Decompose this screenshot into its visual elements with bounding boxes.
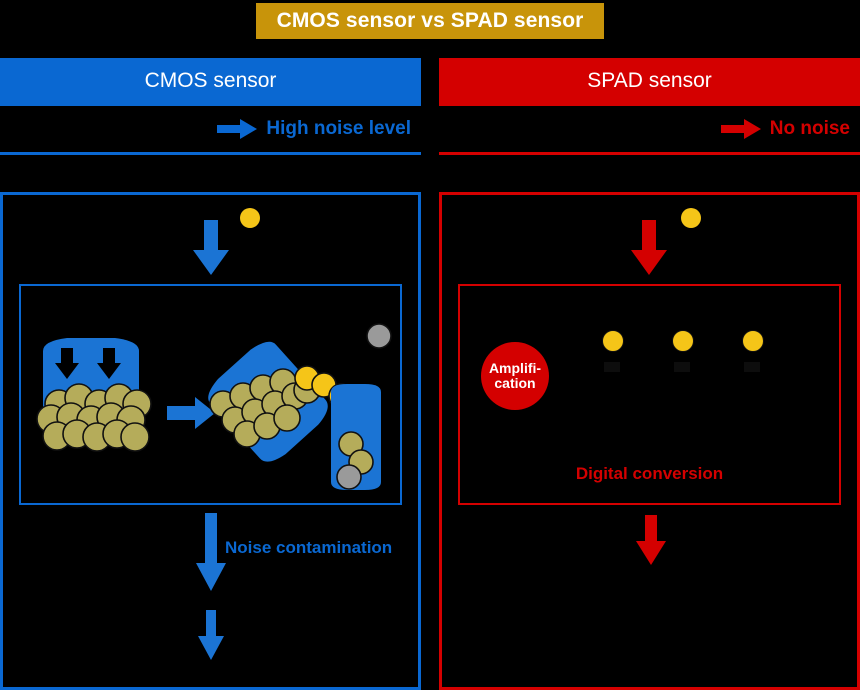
incoming-photon: [681, 208, 701, 228]
page-title: CMOS sensor vs SPAD sensor: [277, 9, 584, 33]
spad-sensor-panel: SPAD sensor No noise Amplifi-: [439, 58, 860, 690]
cylinder-noise-ball: [337, 465, 361, 489]
digital-conversion-label: Digital conversion: [576, 464, 723, 484]
transfer-arrow-icon: [167, 397, 215, 429]
pulse-mark-2: [674, 362, 690, 372]
page-title-bar: CMOS sensor vs SPAD sensor: [256, 3, 604, 39]
cmos-panel-header: CMOS sensor: [0, 58, 421, 103]
noise-contamination-label: Noise contamination: [225, 538, 392, 558]
gray-noise-ball: [367, 324, 391, 348]
cmos-bucket-artwork: [21, 286, 400, 503]
amplification-badge: Amplifi- cation: [481, 342, 549, 410]
arrow-down-icon: [193, 220, 229, 275]
pulse-mark-3: [744, 362, 760, 372]
spad-blank-band: [439, 155, 860, 195]
detected-photon-3: [742, 330, 764, 352]
spad-panel-header: SPAD sensor: [439, 58, 860, 103]
cmos-sensor-panel: CMOS sensor High noise level: [0, 58, 421, 690]
arrow-down-icon: [636, 515, 666, 565]
cmos-panel-title: CMOS sensor: [145, 69, 277, 93]
infographic-canvas: CMOS sensor vs SPAD sensor CMOS sensor H…: [0, 0, 860, 690]
charge-balls-bucket: [37, 384, 151, 451]
detected-photon-2: [672, 330, 694, 352]
spad-noise-row: No noise: [721, 118, 850, 140]
spad-panel-title: SPAD sensor: [587, 69, 712, 93]
amplification-label-line2: cation: [494, 376, 535, 391]
cmos-noise-row: High noise level: [217, 118, 411, 140]
spad-diagram: Amplifi- cation Digital conversion: [439, 195, 860, 690]
cmos-diagram: Noise contamination: [0, 195, 421, 690]
pulse-mark-1: [604, 362, 620, 372]
arrow-right-icon: [721, 118, 761, 140]
spad-noise-label: No noise: [770, 118, 850, 140]
cmos-noise-band: High noise level: [0, 103, 421, 155]
spad-process-box: Amplifi- cation Digital conversion: [458, 284, 841, 505]
detected-photon-1: [602, 330, 624, 352]
arrow-down-icon: [198, 610, 224, 660]
arrow-down-icon: [196, 513, 226, 591]
cmos-noise-label: High noise level: [266, 118, 411, 140]
arrow-down-icon: [631, 220, 667, 275]
amplification-label-line1: Amplifi-: [489, 361, 541, 376]
cmos-blank-band: [0, 155, 421, 195]
arrow-right-icon: [217, 118, 257, 140]
spad-noise-band: No noise: [439, 103, 860, 155]
incoming-photon: [240, 208, 260, 228]
cmos-process-box: [19, 284, 402, 505]
